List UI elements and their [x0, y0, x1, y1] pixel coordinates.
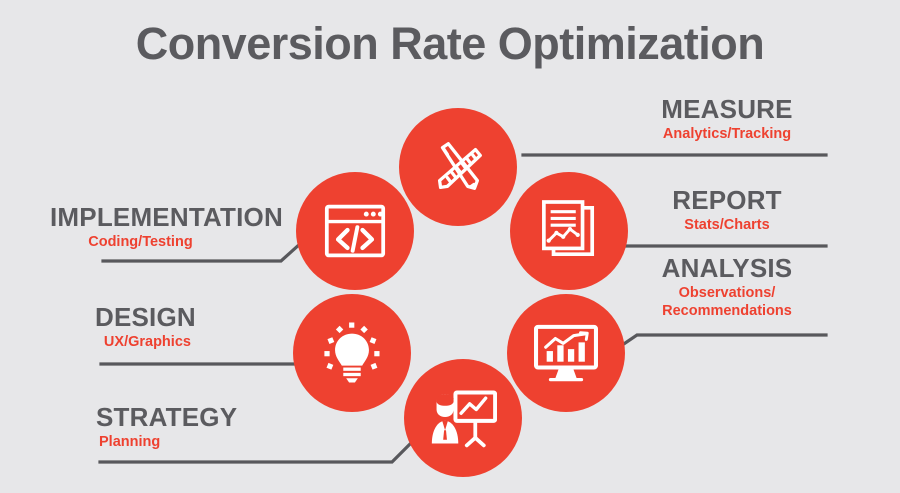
- label-design-subtitle: UX/Graphics: [95, 333, 196, 351]
- label-analysis-heading: ANALYSIS: [606, 254, 848, 282]
- lightbulb-icon: [322, 322, 382, 384]
- label-implementation-subtitle: Coding/Testing: [50, 233, 283, 251]
- connector-analysis: [612, 335, 826, 352]
- label-analysis: ANALYSIS Observations/ Recommendations: [606, 254, 848, 320]
- label-measure: MEASURE Analytics/Tracking: [606, 95, 848, 143]
- node-design[interactable]: [293, 294, 411, 412]
- presentation-person-icon: [429, 388, 497, 448]
- label-implementation: IMPLEMENTATION Coding/Testing: [50, 203, 283, 251]
- label-analysis-subtitle-line2: Recommendations: [606, 302, 848, 320]
- label-measure-heading: MEASURE: [606, 95, 848, 123]
- label-report-heading: REPORT: [606, 186, 848, 214]
- label-design: DESIGN UX/Graphics: [95, 303, 196, 351]
- node-measure[interactable]: [399, 108, 517, 226]
- label-strategy-subtitle: Planning: [96, 433, 237, 451]
- page-title: Conversion Rate Optimization: [0, 18, 900, 70]
- label-strategy: STRATEGY Planning: [96, 403, 237, 451]
- node-implementation[interactable]: [296, 172, 414, 290]
- label-implementation-heading: IMPLEMENTATION: [50, 203, 283, 231]
- documents-chart-icon: [540, 200, 598, 262]
- label-strategy-heading: STRATEGY: [96, 403, 237, 431]
- label-report: REPORT Stats/Charts: [606, 186, 848, 234]
- label-analysis-subtitle-line1: Observations/: [606, 284, 848, 302]
- label-report-subtitle: Stats/Charts: [606, 216, 848, 234]
- pencil-ruler-icon: [427, 136, 489, 198]
- label-measure-subtitle: Analytics/Tracking: [606, 125, 848, 143]
- node-strategy[interactable]: [404, 359, 522, 477]
- label-design-heading: DESIGN: [95, 303, 196, 331]
- monitor-chart-icon: [533, 324, 599, 382]
- infographic-canvas: Conversion Rate Optimization: [0, 0, 900, 493]
- code-window-icon: [324, 203, 386, 259]
